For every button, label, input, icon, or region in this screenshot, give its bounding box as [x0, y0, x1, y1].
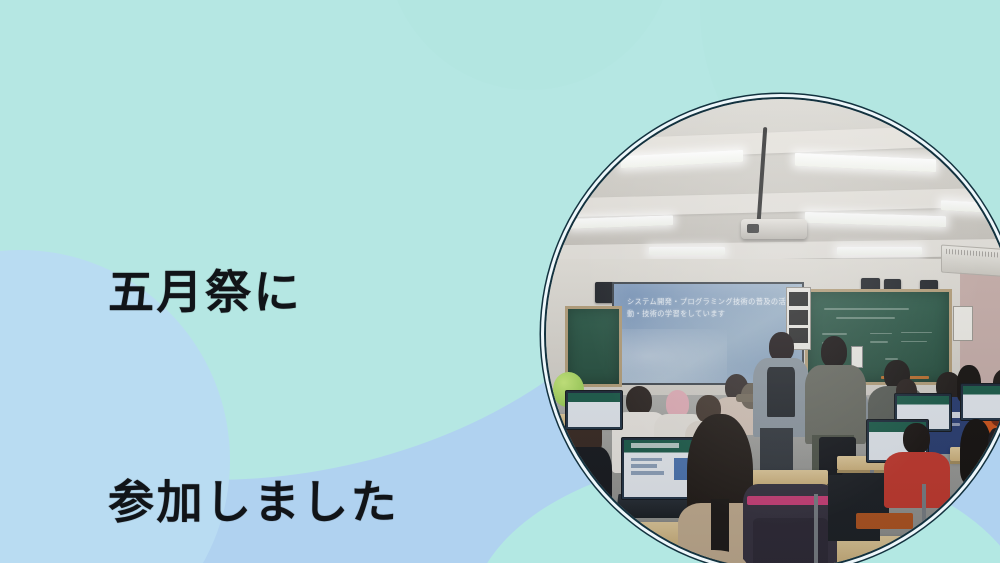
air-conditioner-vent [941, 245, 1000, 278]
classroom-photo: システム開発・プログラミング技術の普及の活動・技術の学習をしています [546, 99, 1000, 563]
chalk-line [870, 341, 888, 342]
presentation-slide: 五月祭に 参加しました [0, 0, 1000, 563]
laptop-ui-row [631, 464, 657, 467]
desk-leg [814, 494, 818, 563]
presenter-body-1 [753, 358, 809, 438]
board-poster [851, 346, 863, 368]
chalk-line [822, 333, 847, 334]
laptop-screen-content [568, 393, 620, 427]
chalk-line [901, 341, 928, 342]
projector-lens [747, 224, 759, 233]
projection-screen-text: システム開発・プログラミング技術の普及の活動・技術の学習をしています [627, 296, 792, 319]
headline-line-1: 五月祭に [108, 258, 399, 328]
wall-notice-right [953, 306, 974, 341]
presenter-body-2 [805, 365, 866, 445]
ceiling-light-7 [837, 247, 922, 255]
classroom-photo-scene: システム開発・プログラミング技術の普及の活動・技術の学習をしています [546, 99, 1000, 563]
projector-body [741, 219, 807, 239]
ceiling-light-6 [649, 247, 724, 255]
laptop-ui-row [631, 471, 664, 474]
vent-grill [946, 249, 1000, 258]
chair-seat-orange [856, 513, 912, 529]
laptop-screen-content [963, 386, 1000, 417]
chalk-line [824, 308, 909, 309]
laptop-ui-row [631, 458, 662, 461]
laptop-screen [960, 383, 1000, 420]
laptop-screen [565, 390, 623, 430]
headline-line-2: 参加しました [108, 468, 399, 538]
desk-leg [922, 484, 926, 563]
backpack-trim [747, 496, 833, 505]
chalk-line [870, 333, 893, 334]
person-body-red-shirt [884, 452, 950, 508]
poster-thumb-1 [789, 292, 809, 307]
chalk-line [836, 317, 895, 318]
chair [828, 475, 880, 541]
poster-thumb-2 [789, 310, 809, 325]
laptop-ui-title [631, 443, 678, 448]
person-body [988, 428, 1000, 503]
slide-headline: 五月祭に 参加しました [108, 118, 399, 563]
screen-glare [612, 329, 727, 383]
person-head [903, 423, 929, 454]
chalk-line [901, 332, 932, 333]
presenter-head-2 [821, 336, 847, 368]
backpack [743, 484, 837, 563]
background-blob-mint-top-middle [385, 0, 675, 90]
presenter-inner-shirt-1 [767, 367, 794, 417]
